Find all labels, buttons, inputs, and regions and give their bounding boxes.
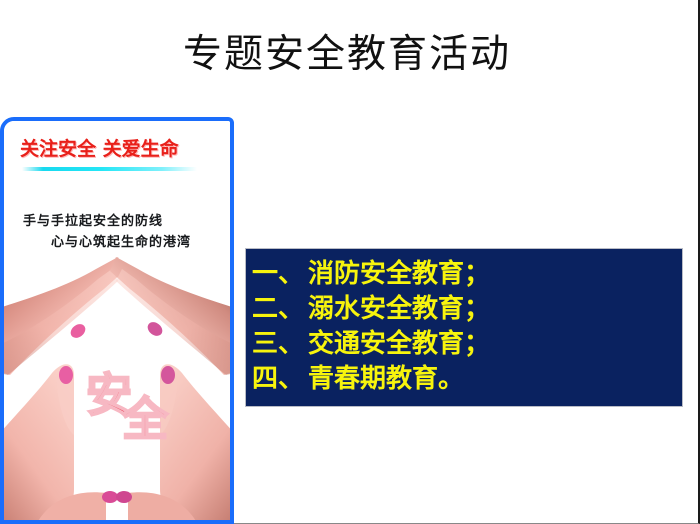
list-item-label: 消防安全教育；: [304, 257, 490, 291]
poster-center-character-quan: 全: [121, 392, 169, 446]
safety-education-poster: 关注安全 关爱生命 手与手拉起安全的防线 心与心筑起生命的港湾: [0, 117, 234, 524]
poster-content: 关注安全 关爱生命 手与手拉起安全的防线 心与心筑起生命的港湾: [4, 121, 230, 520]
list-item-label: 交通安全教育；: [304, 327, 490, 361]
page-title: 专题安全教育活动: [0, 31, 694, 79]
list-item: 二、 溺水安全教育；: [252, 292, 682, 327]
hands-illustration-svg: 安 全: [4, 249, 230, 520]
poster-heading: 关注安全 关爱生命: [20, 137, 179, 161]
list-item: 四、 青春期教育。: [252, 362, 682, 397]
agenda-list-box: 一、 消防安全教育； 二、 溺水安全教育； 三、 交通安全教育； 四、 青春期教…: [245, 248, 683, 407]
list-item: 三、 交通安全教育；: [252, 327, 682, 362]
list-item: 一、 消防安全教育；: [252, 257, 682, 292]
poster-subtitle-line-1: 手与手拉起安全的防线: [23, 212, 163, 231]
list-item-number: 二、: [252, 292, 304, 326]
list-item-number: 一、: [252, 257, 304, 291]
list-item-number: 三、: [252, 327, 304, 361]
poster-divider: [22, 167, 197, 171]
four-hands-house-illustration: 安 全: [4, 249, 230, 520]
list-item-label: 溺水安全教育；: [304, 292, 490, 326]
presentation-slide: 专题安全教育活动 关注安全 关爱生命 手与手拉起安全的防线 心与心筑起生命的港湾: [0, 0, 700, 524]
list-item-number: 四、: [252, 362, 304, 396]
list-item-label: 青春期教育。: [304, 362, 464, 396]
